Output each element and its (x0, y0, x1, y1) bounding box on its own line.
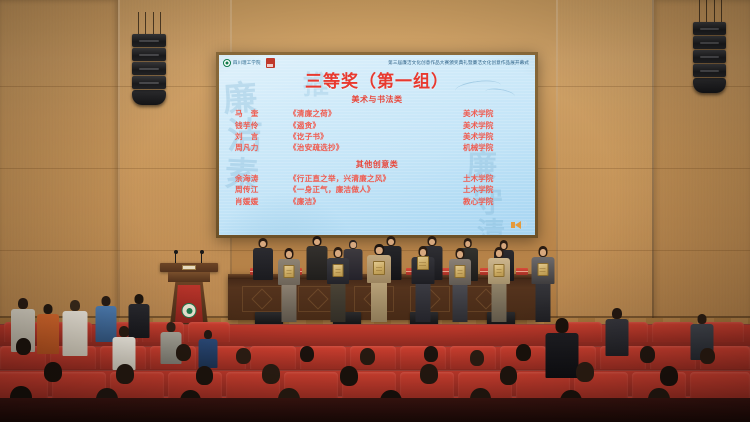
wall-seam (118, 0, 120, 330)
wall-panel-right-inner (556, 0, 652, 330)
presenter (306, 236, 328, 280)
gift-box (516, 268, 528, 275)
winner-work-title: 《行正直之举，兴清廉之风》 (289, 173, 463, 184)
speaker-rigging (695, 0, 725, 24)
winner-name: 周凡力 (235, 142, 289, 153)
standing-attendee (605, 308, 629, 356)
certificate (494, 264, 505, 277)
winner-row: 肖媛媛 《廉洁》 教心学院 (219, 196, 535, 207)
winner-department: 机械学院 (463, 142, 519, 153)
winner-work-title: 《一身正气，廉洁做人》 (289, 184, 463, 195)
presenter (252, 238, 274, 280)
certificate (284, 265, 295, 278)
line-array-speaker-left (132, 34, 166, 105)
auditorium-scene: 廉 洁 素 推 廉 守 清 四川理工学院 第三届廉洁文化创意作品大赛颁奖典礼暨廉… (0, 0, 750, 422)
standing-attendee (545, 318, 579, 378)
winner-department: 土木学院 (463, 173, 519, 184)
slide-subtitle: 美术与书法类 (219, 94, 535, 105)
winner-work-title: 《讫子书》 (289, 131, 463, 142)
winner-row: 周凡力 《治安疏选抄》 机械学院 (219, 142, 535, 153)
winner-row: 周传江 《一身正气，廉洁做人》 土木学院 (219, 184, 535, 195)
slide-content: 三等奖（第一组） 美术与书法类 马 奎 《清廉之荷》 美术学院 钱芋伶 《遏贪》… (219, 55, 535, 207)
standing-attendee (36, 304, 60, 354)
winner-name: 钱芋伶 (235, 120, 289, 131)
winner-row: 钱芋伶 《遏贪》 美术学院 (219, 120, 535, 131)
winner-department: 美术学院 (463, 131, 519, 142)
winner-list-group1: 马 奎 《清廉之荷》 美术学院 钱芋伶 《遏贪》 美术学院 刘 言 《讫子书》 … (219, 108, 535, 154)
winner-name: 余海涛 (235, 173, 289, 184)
winner-department: 教心学院 (463, 196, 519, 207)
presentation-slide: 廉 洁 素 推 廉 守 清 四川理工学院 第三届廉洁文化创意作品大赛颁奖典礼暨廉… (219, 55, 535, 235)
wall-seam (652, 0, 654, 330)
wall-panel-left-outer (0, 0, 118, 330)
speaker-rigging (134, 12, 164, 36)
winner-work-title: 《遏贪》 (289, 120, 463, 131)
winner-work-title: 《清廉之荷》 (289, 108, 463, 119)
winner-name: 周传江 (235, 184, 289, 195)
certificate (333, 264, 344, 277)
certificate (373, 261, 385, 275)
winner-name: 马 奎 (235, 108, 289, 119)
winner-department: 美术学院 (463, 108, 519, 119)
winner-row: 余海涛 《行正直之举，兴清廉之风》 土木学院 (219, 173, 535, 184)
winner-work-title: 《廉洁》 (289, 196, 463, 207)
winner-name: 肖媛媛 (235, 196, 289, 207)
winner-work-title: 《治安疏选抄》 (289, 142, 463, 153)
winner-name: 刘 言 (235, 131, 289, 142)
winner-row: 刘 言 《讫子书》 美术学院 (219, 131, 535, 142)
watermark-calligraphy: 清 (477, 211, 505, 235)
slide-title: 三等奖（第一组） (219, 72, 535, 93)
winner-list-group2: 余海涛 《行正直之举，兴清廉之风》 土木学院 周传江 《一身正气，廉洁做人》 土… (219, 173, 535, 207)
certificate (417, 256, 429, 270)
wall-seam (556, 0, 558, 330)
winner-department: 土木学院 (463, 184, 519, 195)
certificate (455, 265, 466, 278)
projection-screen: 廉 洁 素 推 廉 守 清 四川理工学院 第三届廉洁文化创意作品大赛颁奖典礼暨廉… (216, 52, 538, 238)
winner-department: 美术学院 (463, 120, 519, 131)
volume-speaker-icon[interactable]: )) (512, 221, 527, 229)
winner-row: 马 奎 《清廉之荷》 美术学院 (219, 108, 535, 119)
standing-attendee (62, 300, 88, 356)
podium-nameplate (182, 265, 196, 270)
certificate (537, 263, 548, 276)
foreground-shadow (0, 398, 750, 422)
standing-attendee (198, 330, 218, 368)
section-heading-other-creative: 其他创意类 (219, 159, 535, 170)
line-array-speaker-right (693, 22, 726, 93)
